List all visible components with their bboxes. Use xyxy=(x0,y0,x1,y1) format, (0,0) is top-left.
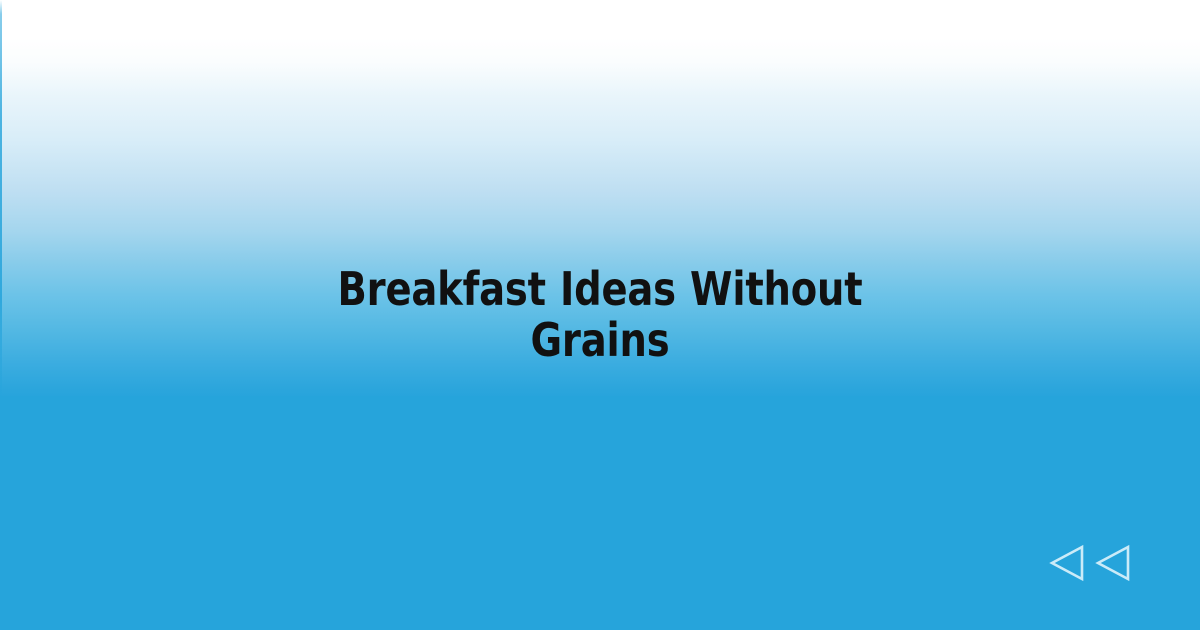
left-edge-accent-rule xyxy=(0,0,2,400)
social-card: Breakfast Ideas Without Grains xyxy=(0,0,1200,630)
page-title: Breakfast Ideas Without Grains xyxy=(265,264,935,366)
triangle-left-icon[interactable] xyxy=(1048,543,1086,583)
background-solid-band xyxy=(0,396,1200,630)
triangle-left-icon[interactable] xyxy=(1094,543,1132,583)
rewind-previous-control[interactable] xyxy=(1048,540,1140,586)
